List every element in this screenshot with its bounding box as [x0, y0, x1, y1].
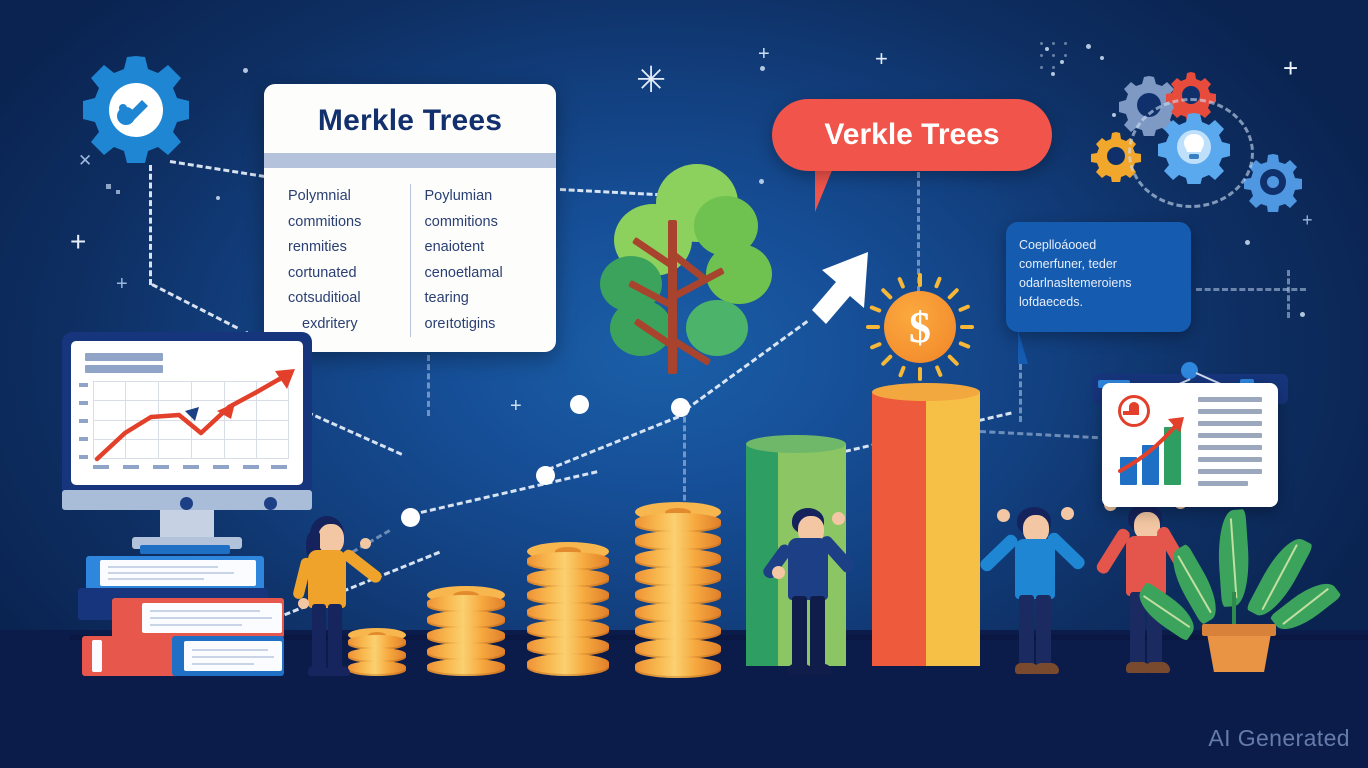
- board-text-line: [1198, 421, 1262, 426]
- blue-bubble-line: lofdaeceds.: [1019, 293, 1178, 312]
- blue-bubble-line: Coeplloáooed: [1019, 236, 1178, 255]
- coin-stack-2: [427, 586, 505, 676]
- pie-chart-icon: [1118, 395, 1150, 427]
- merkle-right-line: cenoetlamal: [425, 261, 535, 287]
- board-text-line: [1198, 433, 1262, 438]
- x-axis-tick: [271, 465, 287, 469]
- monitor-power-button[interactable]: [180, 497, 193, 510]
- x-axis-tick: [213, 465, 229, 469]
- orange-cylinder: [872, 392, 980, 666]
- y-axis-tick: [79, 437, 88, 441]
- x-axis-tick: [93, 465, 109, 469]
- network-node: [671, 398, 690, 417]
- coin-stack-3: [527, 542, 609, 676]
- plus-sparkle-icon: +: [1283, 55, 1298, 81]
- screen-title-bar: [85, 353, 163, 361]
- asterisk-sparkle-icon: ✳: [636, 62, 666, 98]
- x-axis-tick: [243, 465, 259, 469]
- plant-pot-rim: [1202, 624, 1276, 636]
- monitor-trend-line: [89, 367, 299, 467]
- plus-sparkle-icon: +: [116, 274, 128, 294]
- dashed-connector: [412, 470, 598, 516]
- shelf-bar: [140, 545, 230, 554]
- sparkle-square: [116, 190, 120, 194]
- merkle-right-line: commitions: [425, 210, 535, 236]
- dashed-connector: [1287, 270, 1290, 318]
- person-navy-man: [780, 508, 856, 676]
- presentation-board[interactable]: [1102, 383, 1278, 507]
- network-node: [570, 395, 589, 414]
- network-node: [536, 466, 555, 485]
- merkle-left-line: Polymnial: [288, 184, 398, 210]
- plus-sparkle-icon: +: [758, 44, 770, 64]
- board-text-line: [1198, 445, 1262, 450]
- blue-bubble-line: comerfuner, teder: [1019, 255, 1178, 274]
- merkle-right-line: tearing: [425, 286, 535, 312]
- gear-wrench-icon: [78, 52, 194, 168]
- decision-tree-illustration: [596, 164, 772, 374]
- desktop-monitor[interactable]: [62, 332, 312, 502]
- merkle-left-column: Polymnial commitions renmities cortunate…: [288, 184, 410, 337]
- book-pages: [142, 603, 282, 633]
- sparkle-dot: [1245, 240, 1250, 245]
- plus-sparkle-icon: +: [1302, 211, 1313, 229]
- plus-sparkle-icon: +: [70, 228, 86, 256]
- merkle-left-line: commitions: [288, 210, 398, 236]
- coin-stack-4: [635, 502, 721, 676]
- blue-bubble-line: odarlnasltemeroiens: [1019, 274, 1178, 293]
- y-axis-tick: [79, 419, 88, 423]
- book-pages: [184, 641, 282, 671]
- verkle-trees-banner[interactable]: Verkle Trees: [772, 99, 1052, 171]
- monitor-screen: [71, 341, 303, 485]
- board-text-line: [1198, 457, 1262, 462]
- x-axis-tick: [183, 465, 199, 469]
- merkle-card-title: Merkle Trees: [264, 84, 556, 137]
- board-hanger-dot: [1181, 362, 1198, 379]
- board-text-line: [1198, 481, 1248, 486]
- dashed-connector: [1019, 364, 1022, 422]
- merkle-card-divider: [264, 153, 556, 168]
- person-blue-cheering: [995, 505, 1075, 677]
- board-text-line: [1198, 409, 1262, 414]
- monitor-indicator-button[interactable]: [264, 497, 277, 510]
- dot-matrix: [1040, 42, 1100, 84]
- verkle-banner-title: Verkle Trees: [824, 118, 999, 152]
- book-bookmark: [92, 640, 102, 672]
- sparkle-dot: [243, 68, 248, 73]
- x-axis-tick: [123, 465, 139, 469]
- sparkle-dot: [1100, 56, 1104, 60]
- blue-info-bubble[interactable]: Coeplloáooed comerfuner, teder odarlnasl…: [1006, 222, 1191, 332]
- sparkle-dot: [216, 196, 220, 200]
- sparkle-dot: [1112, 113, 1116, 117]
- board-text-line: [1198, 469, 1262, 474]
- x-axis-tick: [153, 465, 169, 469]
- orbit-dashed-ring: [1128, 98, 1254, 208]
- infographic-canvas: + + ✕ + + + + + ✳: [0, 0, 1368, 768]
- y-axis-tick: [79, 401, 88, 405]
- dollar-coin-sun: $: [866, 273, 974, 381]
- plus-sparkle-icon: +: [510, 396, 522, 416]
- sparkle-square: [106, 184, 111, 189]
- dashed-connector: [151, 283, 238, 329]
- blue-bubble-tail: [1018, 330, 1052, 364]
- dollar-symbol: $: [884, 291, 956, 363]
- merkle-card-columns: Polymnial commitions renmities cortunate…: [264, 168, 556, 337]
- dollar-coin: $: [884, 291, 956, 363]
- dashed-connector: [547, 412, 687, 471]
- merkle-left-line: renmities: [288, 235, 398, 261]
- verkle-banner-tail: [815, 168, 861, 212]
- y-axis-tick: [79, 383, 88, 387]
- plus-sparkle-icon: +: [875, 48, 888, 70]
- dashed-connector: [980, 430, 1098, 439]
- ai-generated-watermark: AI Generated: [1208, 725, 1350, 752]
- y-axis-tick: [79, 455, 88, 459]
- person-yellow-woman: [296, 516, 370, 676]
- blue-bubble-text: Coeplloáooed comerfuner, teder odarlnasl…: [1006, 222, 1191, 326]
- merkle-left-line: cortunated: [288, 261, 398, 287]
- potted-plant: [1176, 506, 1306, 672]
- merkle-trees-card[interactable]: Merkle Trees Polymnial commitions renmit…: [264, 84, 556, 352]
- network-node: [401, 508, 420, 527]
- book-pages: [100, 560, 256, 586]
- dashed-connector: [149, 165, 152, 285]
- merkle-right-line: oreıtotigins: [425, 312, 535, 338]
- sparkle-dot: [760, 66, 765, 71]
- merkle-right-line: Poylumian: [425, 184, 535, 210]
- merkle-left-line: cotsuditioal: [288, 286, 398, 312]
- merkle-right-line: enaiotent: [425, 235, 535, 261]
- sparkle-dot: [1300, 312, 1305, 317]
- merkle-right-column: Poylumian commitions enaiotent cenoetlam…: [410, 184, 535, 337]
- board-text-line: [1198, 397, 1262, 402]
- book-stack: [86, 556, 286, 676]
